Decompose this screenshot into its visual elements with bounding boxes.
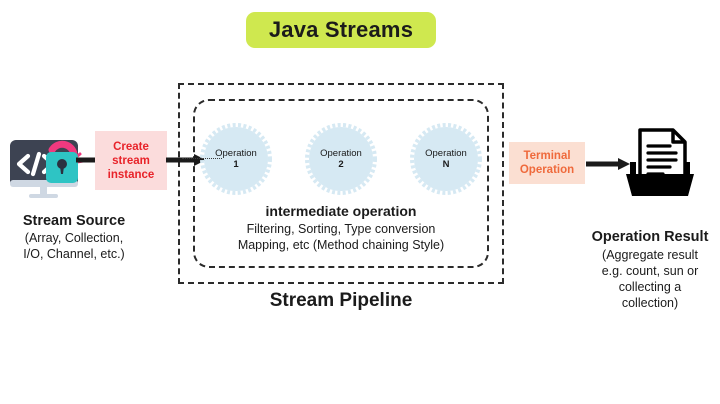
intermediate-detail-line-2: Mapping, etc (Method chaining Style): [193, 237, 489, 253]
operation-node-1: Operation 1: [200, 123, 272, 195]
create-line-2: stream: [112, 155, 150, 167]
stream-pipeline-caption: Stream Pipeline: [178, 290, 504, 312]
operation-number: 1: [233, 159, 238, 170]
intermediate-operation-text-group: intermediate operation Filtering, Sortin…: [193, 202, 489, 253]
operation-result-detail-line-3: collecting a: [580, 279, 720, 295]
operations-row: Operation 1 Operation 2 Operation N: [200, 123, 482, 195]
operation-label: Operation: [320, 148, 362, 159]
intermediate-operation-heading: intermediate operation: [193, 202, 489, 221]
operation-result-detail-line-2: e.g. count, sun or: [580, 263, 720, 279]
operation-result-heading: Operation Result: [580, 228, 720, 247]
operation-label: Operation: [215, 148, 257, 159]
operation-number: 2: [338, 159, 343, 170]
operation-result-detail-line-1: (Aggregate result: [580, 247, 720, 263]
terminal-line-1: Terminal: [523, 150, 570, 162]
stream-source-detail-line-2: I/O, Channel, etc.): [0, 246, 148, 262]
terminal-operation-label: Terminal Operation: [520, 149, 574, 177]
intermediate-detail-line-1: Filtering, Sorting, Type conversion: [193, 221, 489, 237]
page-title: Java Streams: [269, 17, 413, 43]
stream-source-heading: Stream Source: [0, 212, 148, 230]
operation-number: N: [443, 159, 450, 170]
create-line-3: instance: [108, 169, 155, 181]
operation-node-2: Operation 2: [305, 123, 377, 195]
diagram-title-badge: Java Streams: [246, 12, 436, 48]
java-streams-diagram: Java Streams Stream Source: [0, 0, 720, 404]
terminal-line-2: Operation: [520, 164, 574, 176]
create-line-1: Create: [113, 141, 149, 153]
create-stream-instance-label: Create stream instance: [108, 140, 155, 182]
operation-result-label-group: Operation Result (Aggregate result e.g. …: [580, 228, 720, 311]
document-tray-icon: [622, 128, 698, 200]
code-monitor-lock-icon: [8, 128, 92, 206]
operation-result-detail-line-4: collection): [580, 295, 720, 311]
terminal-operation-box: Terminal Operation: [509, 142, 585, 184]
operation-label: Operation: [425, 148, 467, 159]
create-stream-instance-box: Create stream instance: [95, 131, 167, 190]
stream-source-label-group: Stream Source (Array, Collection, I/O, C…: [0, 212, 148, 262]
stream-source-detail-line-1: (Array, Collection,: [0, 230, 148, 246]
operation-node-n: Operation N: [410, 123, 482, 195]
